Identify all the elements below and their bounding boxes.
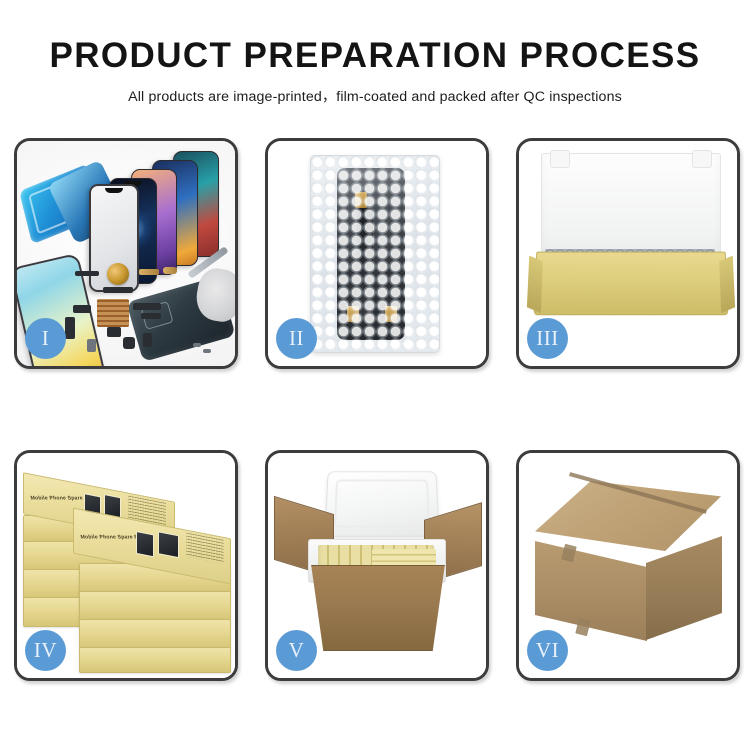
step-badge-2: II xyxy=(276,318,317,359)
component-gold-connector xyxy=(139,269,159,275)
carton-side-face xyxy=(646,536,722,640)
component-shield-plate xyxy=(103,287,133,293)
component-sim-tray xyxy=(87,339,96,352)
component-flex-cable-3 xyxy=(133,303,161,310)
carton-front-face xyxy=(535,541,647,641)
notch-icon xyxy=(105,188,123,193)
step-badge-3: III xyxy=(527,318,568,359)
component-antenna-strip xyxy=(75,271,99,276)
stack-box-r4 xyxy=(79,647,231,673)
page-title: PRODUCT PREPARATION PROCESS xyxy=(0,38,750,75)
step-panel-1[interactable]: I xyxy=(14,138,238,369)
step-panel-5[interactable]: V xyxy=(265,450,489,681)
kraft-box-base xyxy=(534,252,729,316)
step-badge-1: I xyxy=(25,318,66,359)
step-panel-6[interactable]: VI xyxy=(516,450,740,681)
bubble-wrap-bag xyxy=(310,155,440,353)
box-spec-lines-second xyxy=(186,533,224,564)
stack-box-r2 xyxy=(79,591,231,621)
step-badge-4: IV xyxy=(25,630,66,671)
speaker-module-icon xyxy=(107,263,129,285)
logic-board-icon xyxy=(97,299,129,327)
step-panel-2[interactable]: II xyxy=(265,138,489,369)
box-window-second-1 xyxy=(136,531,154,557)
header: PRODUCT PREPARATION PROCESS All products… xyxy=(0,38,750,106)
process-steps-grid: I II III xyxy=(14,138,736,681)
stack-box-r3 xyxy=(79,619,231,649)
box-window-second-2 xyxy=(158,531,179,558)
carton-body xyxy=(302,565,454,651)
step-panel-4[interactable]: Mobile Phone Spare Parts Mobile Phone Sp… xyxy=(14,450,238,681)
component-flex-cable-4 xyxy=(141,313,161,319)
foam-lid-open xyxy=(324,471,440,536)
component-flex-cable-2 xyxy=(65,317,75,339)
component-screw-2 xyxy=(203,349,211,353)
bubble-texture-overlay xyxy=(311,156,439,352)
component-camera-module xyxy=(107,327,121,337)
carton-tape-lower xyxy=(575,618,591,636)
step-badge-5: V xyxy=(276,630,317,671)
step-panel-3[interactable]: III xyxy=(516,138,740,369)
page-subtitle: All products are image-printed，film-coat… xyxy=(0,86,750,106)
infographic-page: PRODUCT PREPARATION PROCESS All products… xyxy=(0,0,750,750)
component-screw-1 xyxy=(193,343,201,347)
component-button-flex xyxy=(143,333,152,347)
component-flex-cable-1 xyxy=(73,305,91,313)
step-badge-6: VI xyxy=(527,630,568,671)
component-vibrator xyxy=(123,337,135,349)
component-gold-clip xyxy=(163,267,177,274)
